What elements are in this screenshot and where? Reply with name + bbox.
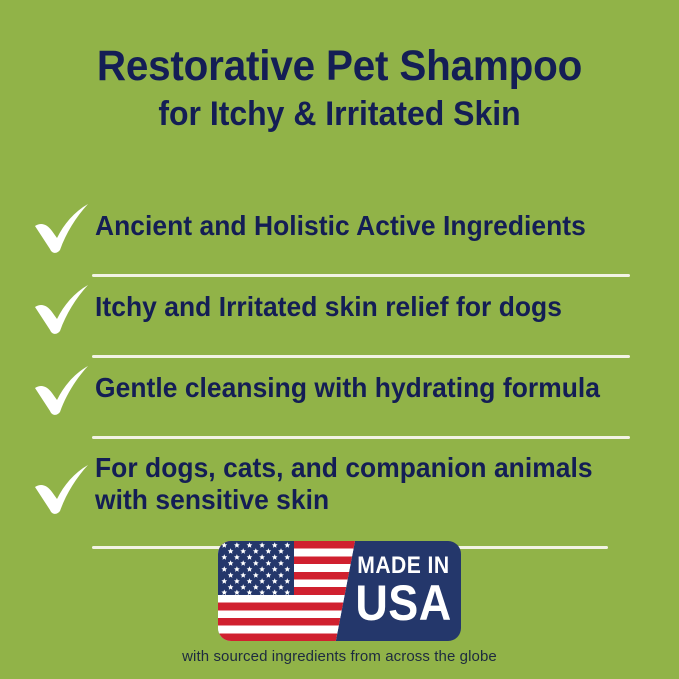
- list-item-label: Ancient and Holistic Active Ingredients: [95, 196, 610, 242]
- list-item-label: Gentle cleansing with hydrating formula: [95, 358, 610, 404]
- page-title: Restorative Pet Shampoo: [20, 44, 658, 90]
- flag-canton: [218, 541, 294, 595]
- spacer: [0, 419, 679, 436]
- badge-line-usa: USA: [355, 580, 451, 628]
- badge-text: MADE IN USA: [346, 541, 461, 641]
- made-in-usa-badge: MADE IN USA: [218, 541, 461, 641]
- made-in-usa-section: MADE IN USA with sourced ingredients fro…: [0, 541, 679, 665]
- list-item: Itchy and Irritated skin relief for dogs: [0, 277, 679, 338]
- list-item: For dogs, cats, and companion animals wi…: [0, 439, 679, 529]
- checkmark-icon: [31, 281, 93, 339]
- spacer: [0, 338, 679, 355]
- spacer: [0, 257, 679, 274]
- list-item: Ancient and Holistic Active Ingredients: [0, 196, 679, 257]
- usa-flag-icon: [218, 541, 355, 641]
- list-item-label: Itchy and Irritated skin relief for dogs: [95, 277, 610, 323]
- feature-checklist: Ancient and Holistic Active Ingredients …: [0, 196, 679, 549]
- badge-caption: with sourced ingredients from across the…: [0, 648, 679, 665]
- page-subtitle: for Itchy & Irritated Skin: [20, 96, 658, 133]
- checkmark-icon: [31, 200, 93, 258]
- list-item: Gentle cleansing with hydrating formula: [0, 358, 679, 419]
- checkmark-icon: [31, 362, 93, 420]
- checkmark-icon: [31, 461, 93, 519]
- flag-stars: [218, 541, 294, 595]
- list-item-label: For dogs, cats, and companion animals wi…: [95, 439, 610, 516]
- header: Restorative Pet Shampoo for Itchy & Irri…: [0, 44, 679, 133]
- product-feature-poster: Restorative Pet Shampoo for Itchy & Irri…: [0, 0, 679, 679]
